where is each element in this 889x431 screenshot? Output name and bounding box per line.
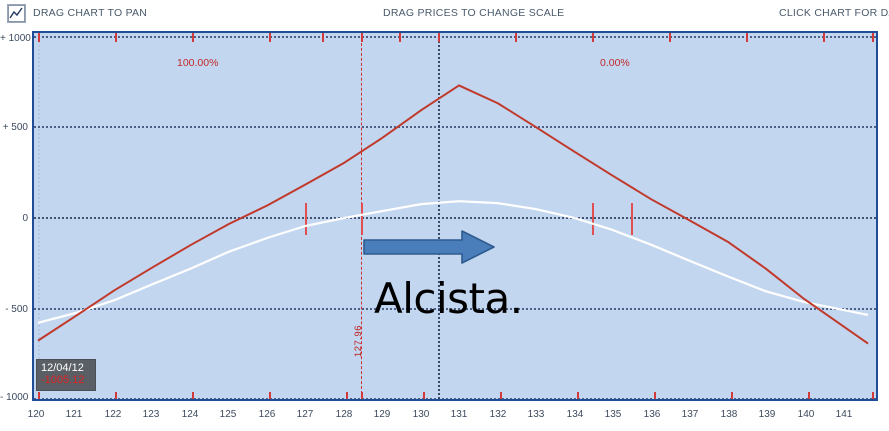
bullish-callout-text: Alcista. <box>374 274 523 323</box>
y-tick-label-m500: - 500 <box>0 304 28 315</box>
x-tick-label-122: 122 <box>95 409 131 420</box>
x-tick-label-124: 124 <box>172 409 208 420</box>
x-tick-label-131: 131 <box>441 409 477 420</box>
data-hint-label: CLICK CHART FOR DATA <box>779 7 889 19</box>
y-tick-label-0: 0 <box>0 213 28 224</box>
chart-toolbar: DRAG CHART TO PAN DRAG PRICES TO CHANGE … <box>0 0 889 28</box>
x-tick-label-141: 141 <box>826 409 862 420</box>
scale-hint-label: DRAG PRICES TO CHANGE SCALE <box>383 7 564 19</box>
y-tick-label-1000: + 1000 <box>0 33 28 44</box>
pan-hint-label: DRAG CHART TO PAN <box>33 7 147 19</box>
y-tick-label-m1000: - 1000 <box>0 392 28 403</box>
chart-application: DRAG CHART TO PAN DRAG PRICES TO CHANGE … <box>0 0 889 431</box>
x-tick-label-138: 138 <box>711 409 747 420</box>
data-tooltip[interactable]: 12/04/12 -1005.12 <box>36 359 96 391</box>
x-tick-label-125: 125 <box>210 409 246 420</box>
x-tick-label-140: 140 <box>788 409 824 420</box>
x-tick-label-139: 139 <box>749 409 785 420</box>
tooltip-value: -1005.12 <box>41 375 91 384</box>
bullish-arrow-icon <box>362 229 497 265</box>
tooltip-date: 12/04/12 <box>41 362 91 375</box>
y-tick-label-500: + 500 <box>0 122 28 133</box>
chart-icon[interactable] <box>7 4 26 23</box>
series-canvas <box>34 33 876 399</box>
plot-area-wrapper[interactable]: 127.96 <box>32 31 878 401</box>
x-tick-label-130: 130 <box>403 409 439 420</box>
x-tick-label-126: 126 <box>249 409 285 420</box>
x-tick-label-134: 134 <box>557 409 593 420</box>
x-tick-label-128: 128 <box>326 409 362 420</box>
plot-area[interactable]: 127.96 <box>32 31 878 401</box>
x-tick-label-137: 137 <box>672 409 708 420</box>
x-tick-label-135: 135 <box>595 409 631 420</box>
x-tick-label-136: 136 <box>634 409 670 420</box>
x-tick-label-132: 132 <box>480 409 516 420</box>
x-tick-label-133: 133 <box>518 409 554 420</box>
x-tick-label-121: 121 <box>56 409 92 420</box>
x-tick-label-123: 123 <box>133 409 169 420</box>
x-tick-label-129: 129 <box>364 409 400 420</box>
x-tick-label-120: 120 <box>18 409 54 420</box>
x-tick-label-127: 127 <box>287 409 323 420</box>
